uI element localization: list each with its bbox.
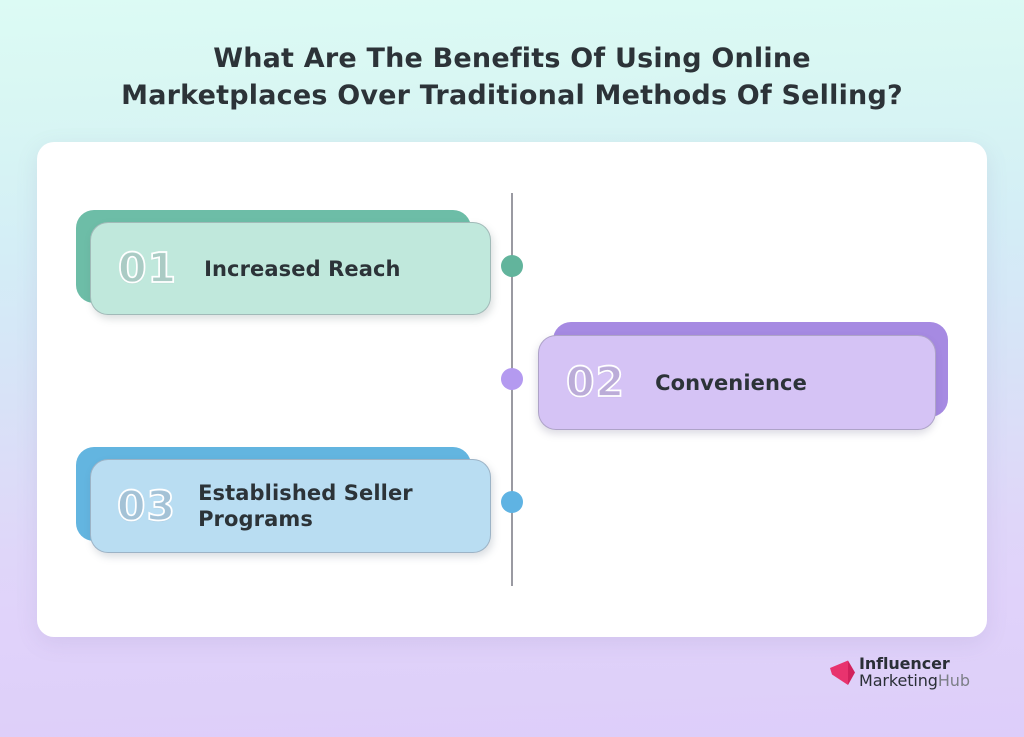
infographic-canvas: What Are The Benefits Of Using Online Ma… [0, 0, 1024, 737]
brand-logo-line-2: MarketingHub [859, 672, 970, 689]
benefit-card-2-label: Convenience [655, 370, 807, 396]
influencer-arrow-icon [830, 659, 856, 689]
page-title-line-2: Marketplaces Over Traditional Methods Of… [0, 77, 1024, 114]
benefit-card-1-label: Increased Reach [204, 256, 401, 282]
benefit-card-2-number: 02 [566, 362, 625, 403]
benefit-card-1-body: 01 Increased Reach [90, 222, 491, 315]
brand-logo: Influencer MarketingHub [830, 655, 970, 689]
timeline-dot-3 [501, 491, 523, 513]
brand-logo-line-1: Influencer [859, 655, 970, 672]
timeline-dot-2 [501, 368, 523, 390]
benefit-card-3-label: Established Seller Programs [198, 480, 490, 532]
brand-logo-text: Influencer MarketingHub [859, 655, 970, 689]
benefit-card-1-number: 01 [118, 248, 177, 289]
brand-logo-marketing: Marketing [859, 671, 938, 690]
page-title-line-1: What Are The Benefits Of Using Online [0, 40, 1024, 77]
benefit-card-3-body: 03 Established Seller Programs [90, 459, 491, 553]
timeline-dot-1 [501, 255, 523, 277]
benefit-card-3: 03 Established Seller Programs [76, 447, 491, 553]
benefit-card-1: 01 Increased Reach [76, 210, 491, 315]
page-title: What Are The Benefits Of Using Online Ma… [0, 40, 1024, 114]
brand-logo-hub: Hub [938, 671, 970, 690]
benefit-card-2-body: 02 Convenience [538, 335, 936, 430]
benefit-card-2: 02 Convenience [538, 322, 948, 430]
benefit-card-3-number: 03 [117, 486, 176, 527]
